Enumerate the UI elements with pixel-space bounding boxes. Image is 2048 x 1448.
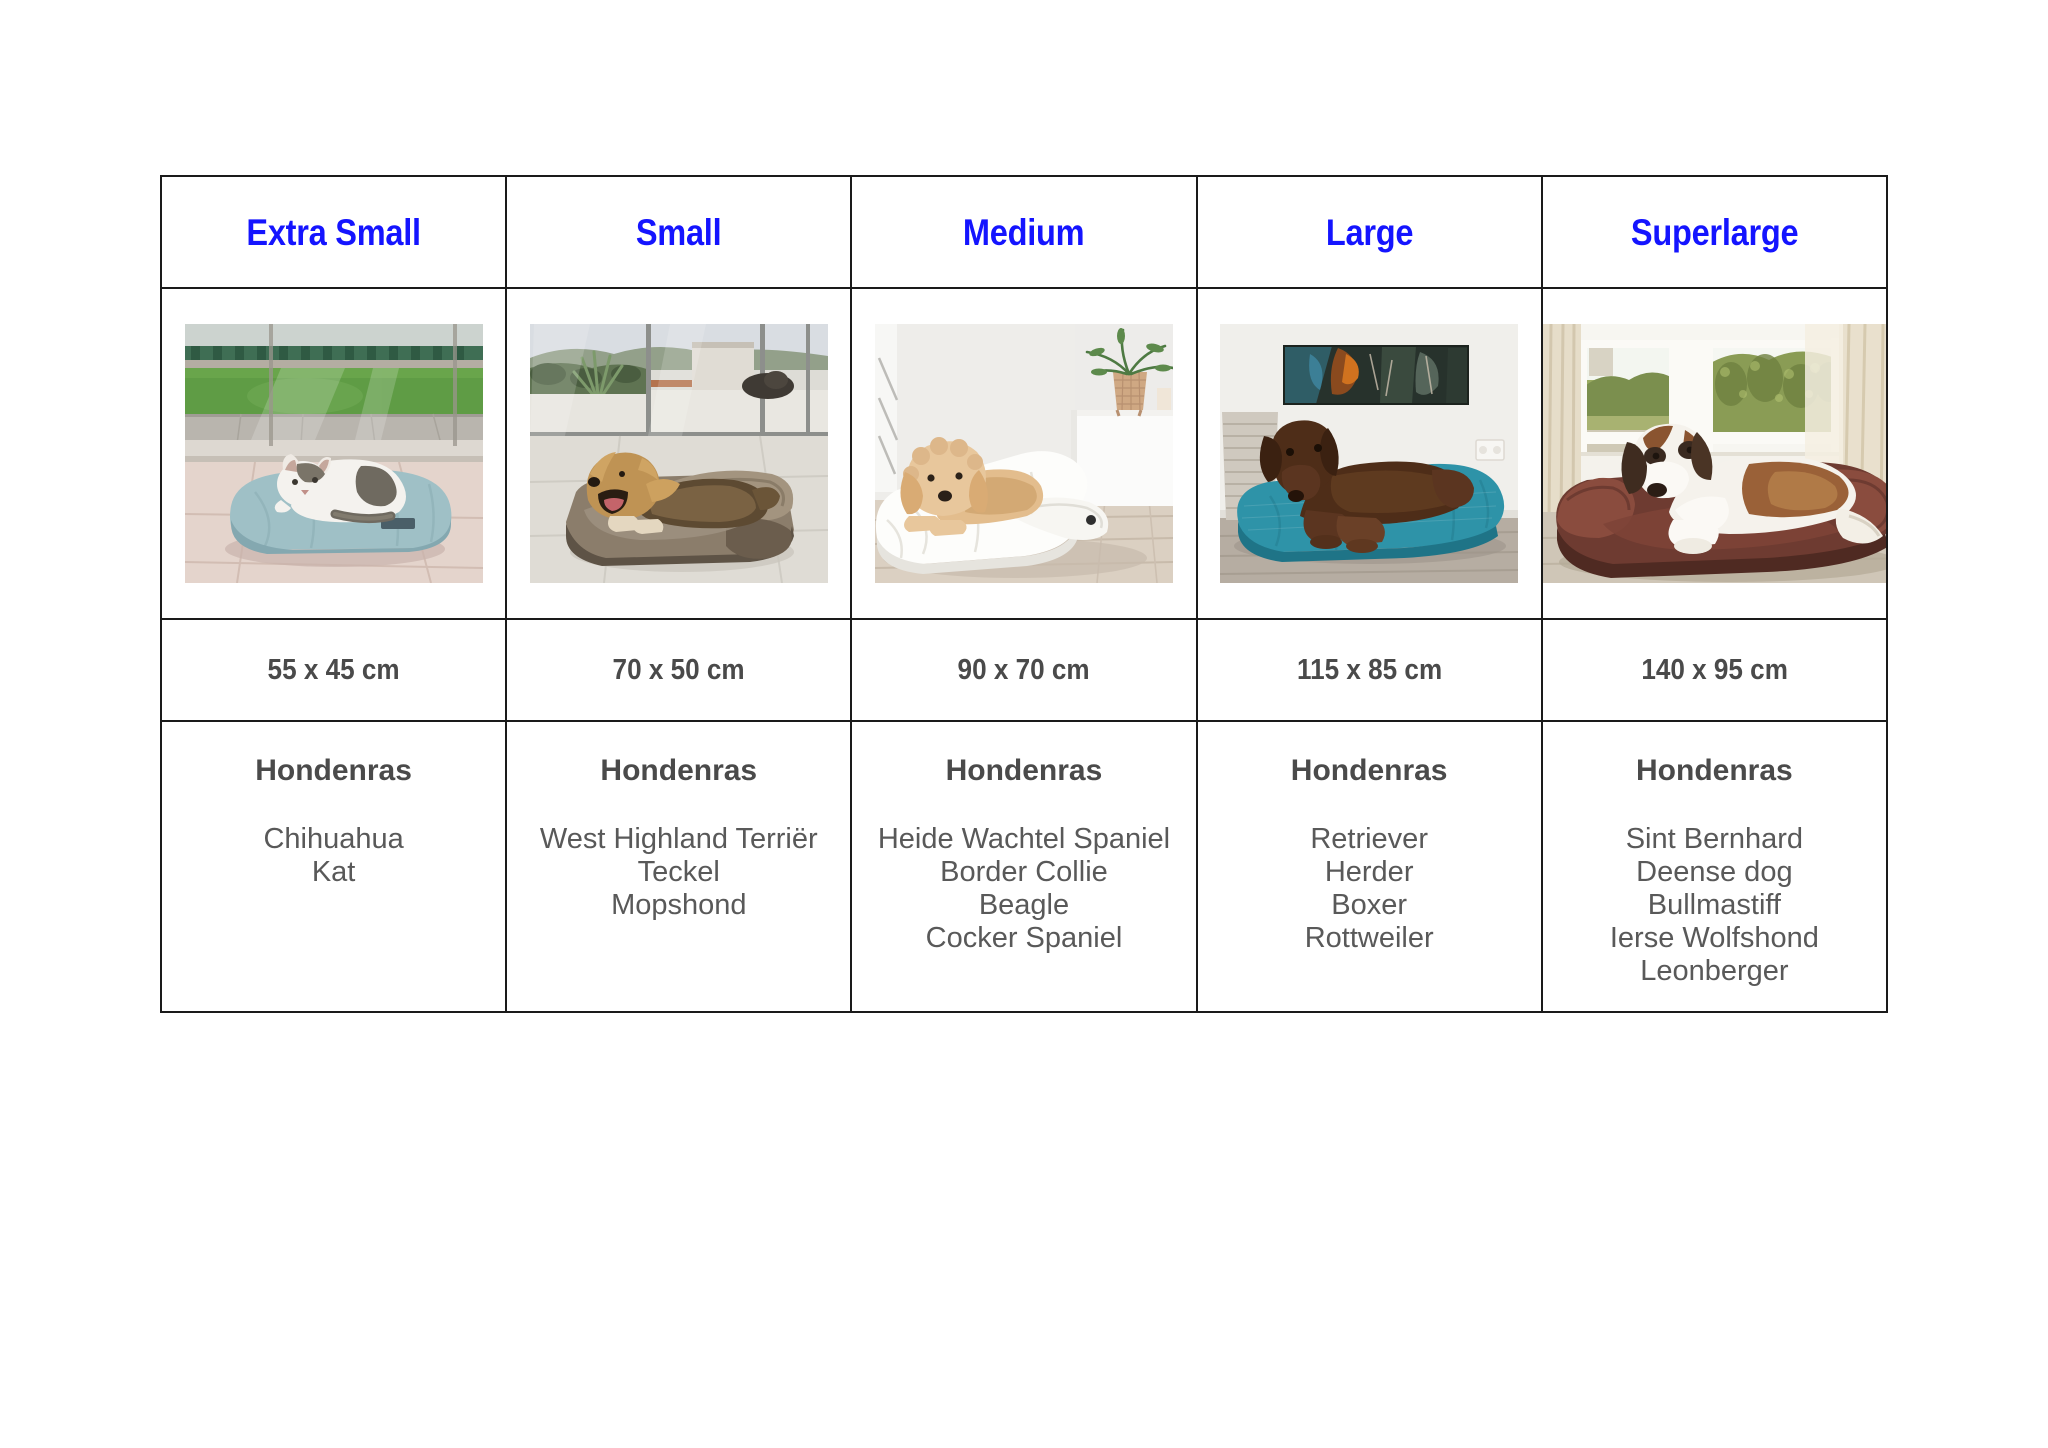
- breed-item: Kat: [162, 856, 505, 889]
- breed-item: Leonberger: [1543, 955, 1886, 988]
- breed-item: Beagle: [852, 889, 1195, 922]
- cell-breeds-small: Hondenras West Highland Terriër Teckel M…: [506, 721, 851, 1012]
- breed-item: Retriever: [1198, 823, 1541, 856]
- photo-wrap-medium: [852, 289, 1195, 618]
- product-photo-medium: [875, 324, 1173, 583]
- breed-item: West Highland Terriër: [507, 823, 850, 856]
- table-row-headings: Extra Small Small Medium Large Superlarg…: [161, 176, 1887, 288]
- product-photo-large: [1220, 324, 1518, 583]
- dimensions-label-small: 70 x 50 cm: [524, 656, 833, 685]
- cell-dimensions-superlarge: 140 x 95 cm: [1542, 619, 1887, 721]
- breed-item: Teckel: [507, 856, 850, 889]
- heading-label-large: Large: [1218, 214, 1520, 251]
- breeds-title-medium: Hondenras: [852, 754, 1195, 789]
- dog-bed-size-table: Extra Small Small Medium Large Superlarg…: [160, 175, 1888, 1013]
- breeds-box-small: Hondenras West Highland Terriër Teckel M…: [507, 722, 850, 922]
- photo-illustration-cockapoo-on-white-bed: [875, 324, 1173, 583]
- breed-item: Rottweiler: [1198, 922, 1541, 955]
- cell-photo-large: [1197, 288, 1542, 619]
- photo-illustration-terrier-on-taupe-bed: [530, 324, 828, 583]
- breed-item: Heide Wachtel Spaniel: [852, 823, 1195, 856]
- document-page: Extra Small Small Medium Large Superlarg…: [0, 0, 2048, 1448]
- breeds-title-extra-small: Hondenras: [162, 754, 505, 789]
- photo-illustration-stbernard-on-brown-bed: [1543, 324, 1886, 583]
- cell-breeds-medium: Hondenras Heide Wachtel Spaniel Border C…: [851, 721, 1196, 1012]
- cell-photo-small: [506, 288, 851, 619]
- cell-heading-small: Small: [506, 176, 851, 288]
- product-photo-superlarge: [1543, 324, 1886, 583]
- breed-item: Sint Bernhard: [1543, 823, 1886, 856]
- breed-item: Bullmastiff: [1543, 889, 1886, 922]
- cell-photo-extra-small: [161, 288, 506, 619]
- product-photo-small: [530, 324, 828, 583]
- cell-heading-extra-small: Extra Small: [161, 176, 506, 288]
- cell-breeds-superlarge: Hondenras Sint Bernhard Deense dog Bullm…: [1542, 721, 1887, 1012]
- photo-illustration-labrador-on-teal-bed: [1220, 324, 1518, 583]
- breeds-box-extra-small: Hondenras Chihuahua Kat: [162, 722, 505, 889]
- table-row-dimensions: 55 x 45 cm 70 x 50 cm 90 x 70 cm 115 x 8…: [161, 619, 1887, 721]
- cell-photo-superlarge: [1542, 288, 1887, 619]
- photo-wrap-large: [1198, 289, 1541, 618]
- heading-label-medium: Medium: [873, 214, 1175, 251]
- breed-item: Mopshond: [507, 889, 850, 922]
- breed-item: Chihuahua: [162, 823, 505, 856]
- photo-illustration-cat-on-lightblue-bed: [185, 324, 483, 583]
- cell-dimensions-extra-small: 55 x 45 cm: [161, 619, 506, 721]
- breed-item: Border Collie: [852, 856, 1195, 889]
- breeds-title-small: Hondenras: [507, 754, 850, 789]
- breed-item: Cocker Spaniel: [852, 922, 1195, 955]
- table-row-breeds: Hondenras Chihuahua Kat Hondenras West H…: [161, 721, 1887, 1012]
- dimensions-label-extra-small: 55 x 45 cm: [179, 656, 488, 685]
- cell-heading-medium: Medium: [851, 176, 1196, 288]
- breed-item: Ierse Wolfshond: [1543, 922, 1886, 955]
- breeds-box-superlarge: Hondenras Sint Bernhard Deense dog Bullm…: [1543, 722, 1886, 988]
- breeds-box-medium: Hondenras Heide Wachtel Spaniel Border C…: [852, 722, 1195, 955]
- cell-breeds-large: Hondenras Retriever Herder Boxer Rottwei…: [1197, 721, 1542, 1012]
- breeds-title-superlarge: Hondenras: [1543, 754, 1886, 789]
- breeds-box-large: Hondenras Retriever Herder Boxer Rottwei…: [1198, 722, 1541, 955]
- breeds-title-large: Hondenras: [1198, 754, 1541, 789]
- cell-breeds-extra-small: Hondenras Chihuahua Kat: [161, 721, 506, 1012]
- cell-heading-large: Large: [1197, 176, 1542, 288]
- dimensions-label-medium: 90 x 70 cm: [870, 656, 1179, 685]
- cell-dimensions-small: 70 x 50 cm: [506, 619, 851, 721]
- cell-dimensions-large: 115 x 85 cm: [1197, 619, 1542, 721]
- dimensions-label-large: 115 x 85 cm: [1215, 656, 1524, 685]
- heading-label-extra-small: Extra Small: [183, 214, 485, 251]
- cell-dimensions-medium: 90 x 70 cm: [851, 619, 1196, 721]
- photo-wrap-small: [507, 289, 850, 618]
- dimensions-label-superlarge: 140 x 95 cm: [1560, 656, 1869, 685]
- breed-item: Deense dog: [1543, 856, 1886, 889]
- heading-label-small: Small: [528, 214, 830, 251]
- heading-label-superlarge: Superlarge: [1563, 214, 1865, 251]
- photo-wrap-superlarge: [1543, 289, 1886, 618]
- cell-photo-medium: [851, 288, 1196, 619]
- table-row-photos: [161, 288, 1887, 619]
- product-photo-extra-small: [185, 324, 483, 583]
- breed-item: Herder: [1198, 856, 1541, 889]
- photo-wrap-extra-small: [162, 289, 505, 618]
- breed-item: Boxer: [1198, 889, 1541, 922]
- cell-heading-superlarge: Superlarge: [1542, 176, 1887, 288]
